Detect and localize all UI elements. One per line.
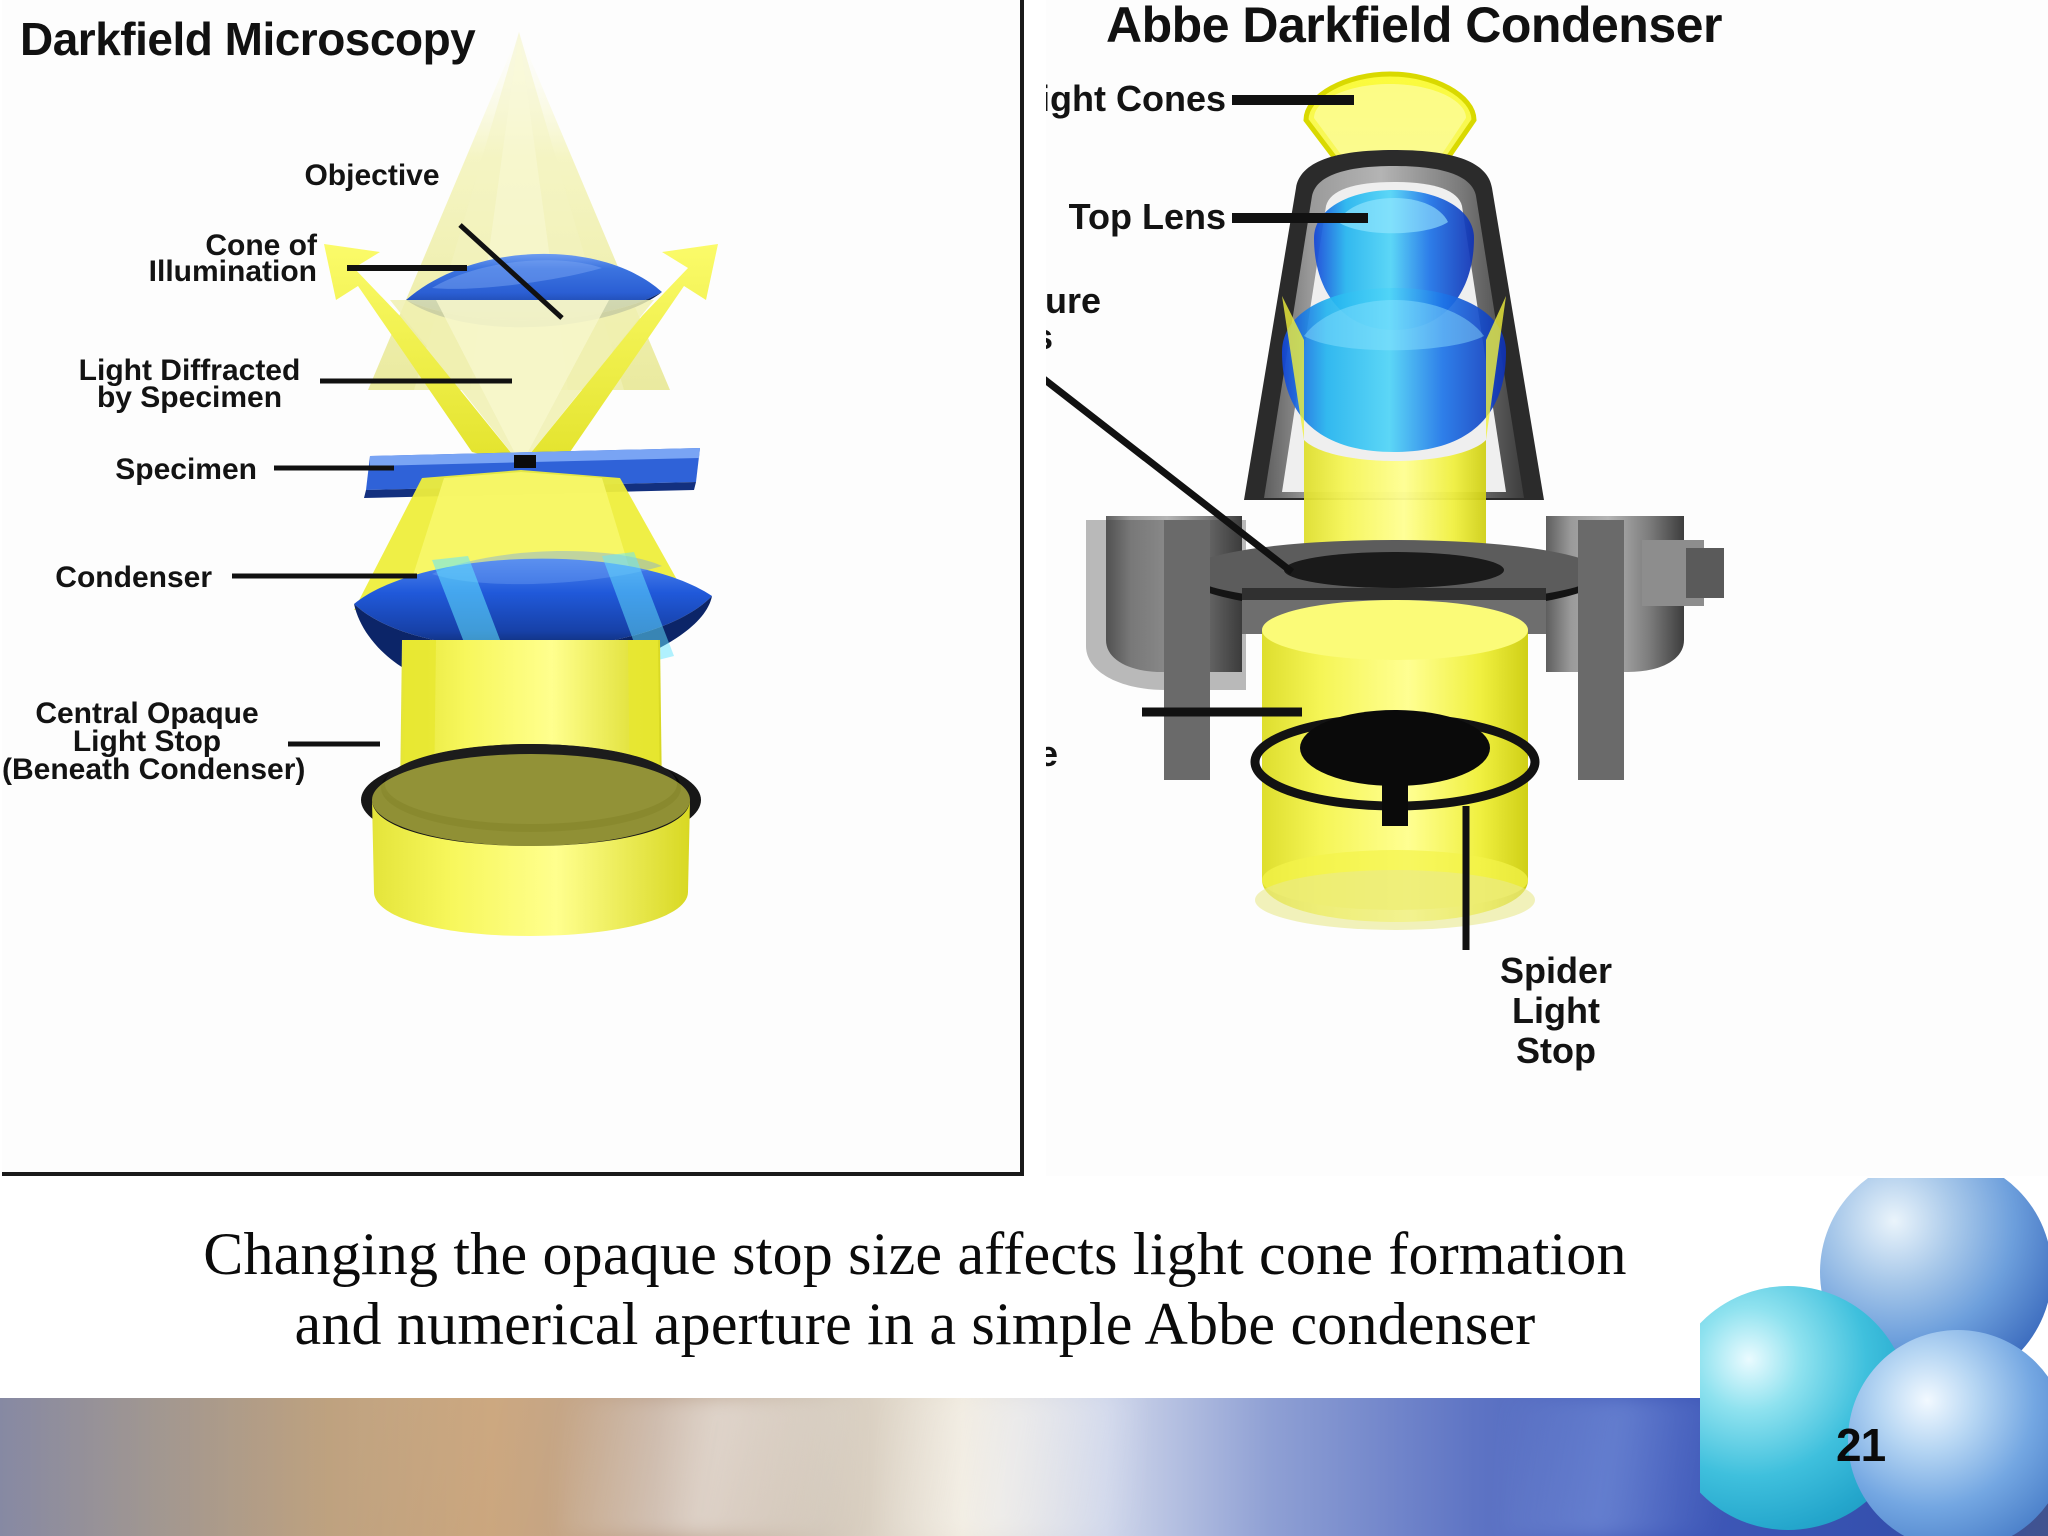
band-streak-2 <box>880 1398 1140 1536</box>
label-light-from-source-line2: From <box>1046 695 1196 733</box>
band-streak-1 <box>560 1398 860 1536</box>
condenser-base-shape <box>1255 870 1535 930</box>
slide-caption: Changing the opaque stop size affects li… <box>0 1182 1830 1398</box>
caption-line-2: and numerical aperture in a simple Abbe … <box>294 1290 1535 1360</box>
label-spider-light-stop-line2: Light <box>1406 992 1706 1030</box>
label-light-from-source-line1: Light <box>1046 655 1196 693</box>
globe-logo <box>1700 1178 2048 1536</box>
label-top-lens: Top Lens <box>1046 198 1226 236</box>
label-aperture-iris-line1: Aperture <box>1046 282 1226 320</box>
label-cone-of-illumination-line2: Illumination <box>62 256 317 288</box>
label-condenser: Condenser <box>22 562 212 594</box>
abbe-darkfield-condenser-panel: Abbe Darkfield Condenser Light Cones Top… <box>1046 0 2048 1176</box>
label-light-diffracted-line2: by Specimen <box>62 382 317 414</box>
band-streak-3 <box>1500 1398 1720 1536</box>
light-source-cylinder-shape <box>372 754 690 936</box>
slide: Darkfield Microscopy Objective Cone of I… <box>0 0 2048 1536</box>
label-aperture-iris-line2: Iris <box>1046 318 1226 356</box>
darkfield-microscopy-panel: Darkfield Microscopy Objective Cone of I… <box>2 0 1024 1176</box>
caption-line-1: Changing the opaque stop size affects li… <box>203 1220 1626 1290</box>
label-objective: Objective <box>262 160 482 192</box>
figure-area: Darkfield Microscopy Objective Cone of I… <box>0 0 2048 1180</box>
right-panel-title: Abbe Darkfield Condenser <box>1106 0 1722 54</box>
label-spider-light-stop-line3: Stop <box>1406 1032 1706 1070</box>
label-specimen: Specimen <box>42 454 257 486</box>
page-number: 21 <box>1836 1418 1885 1472</box>
label-spider-light-stop-line1: Spider <box>1406 952 1706 990</box>
label-light-cones: Light Cones <box>1046 80 1226 118</box>
middle-lens-shape <box>1282 288 1506 452</box>
label-light-from-source-line3: Source <box>1046 735 1196 773</box>
left-panel-title: Darkfield Microscopy <box>20 12 475 66</box>
label-light-stop-line3: (Beneath Condenser) <box>2 754 292 786</box>
